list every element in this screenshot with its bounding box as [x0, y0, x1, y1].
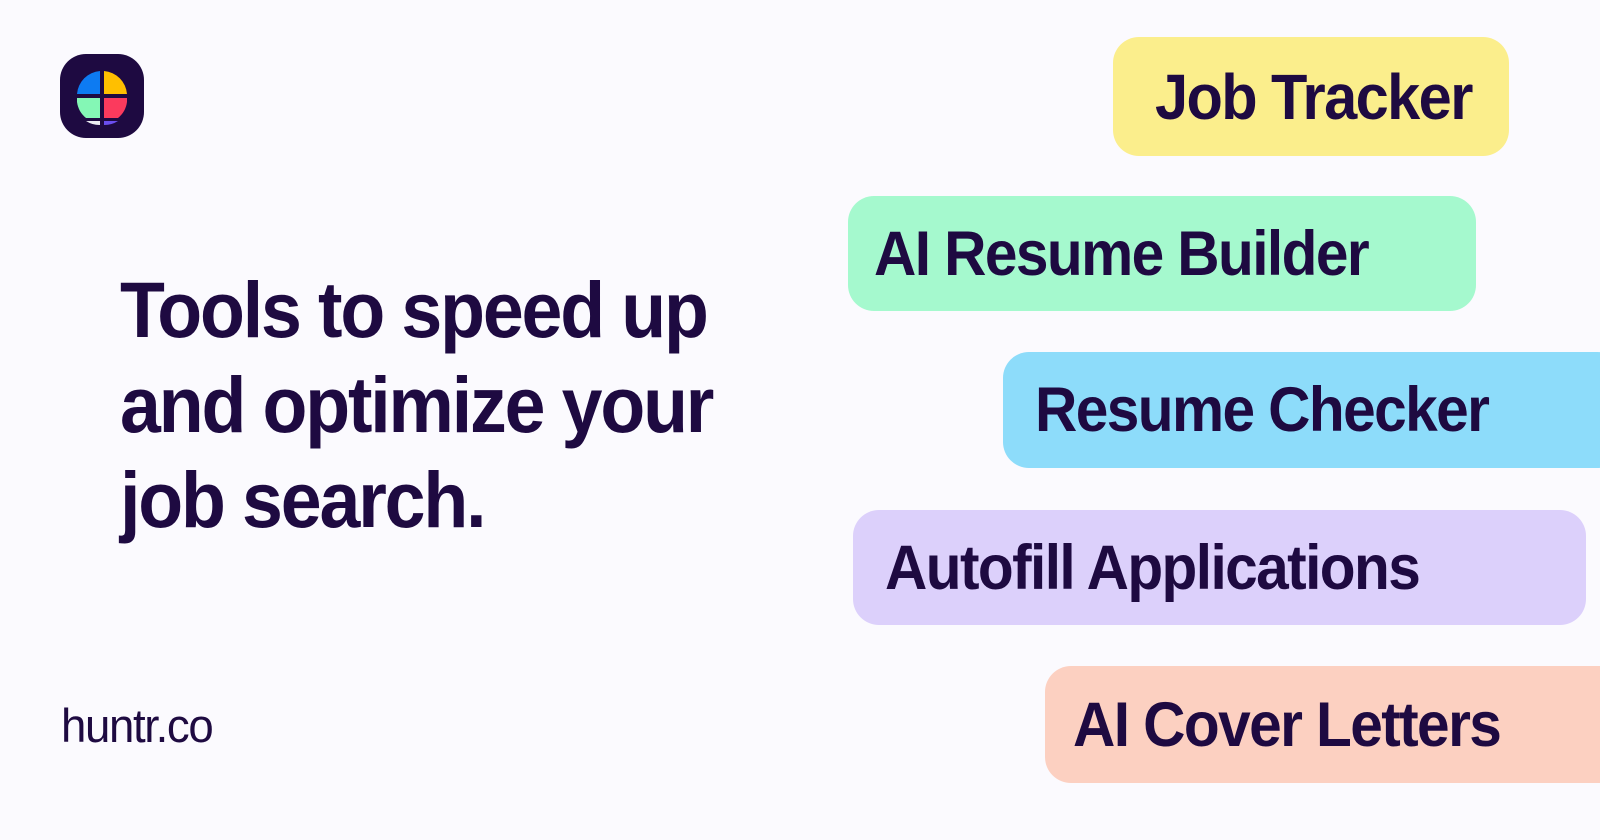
feature-pill-label: Resume Checker — [1035, 374, 1488, 446]
feature-pill-autofill-applications[interactable]: Autofill Applications — [853, 510, 1586, 625]
brand-wordmark: huntr.co — [61, 698, 212, 754]
feature-pill-resume-checker[interactable]: Resume Checker — [1003, 352, 1600, 468]
feature-pill-ai-resume-builder[interactable]: AI Resume Builder — [848, 196, 1476, 311]
feature-pill-label: Autofill Applications — [885, 532, 1419, 604]
page-title: Tools to speed up and optimize your job … — [120, 262, 771, 547]
feature-pill-label: AI Cover Letters — [1073, 689, 1500, 761]
feature-pill-label: AI Resume Builder — [874, 218, 1368, 290]
feature-pill-job-tracker[interactable]: Job Tracker — [1113, 37, 1509, 156]
feature-pill-ai-cover-letters[interactable]: AI Cover Letters — [1045, 666, 1600, 783]
promo-banner: Tools to speed up and optimize your job … — [0, 0, 1600, 840]
huntr-logo[interactable] — [60, 54, 144, 138]
feature-pill-label: Job Tracker — [1155, 60, 1472, 134]
